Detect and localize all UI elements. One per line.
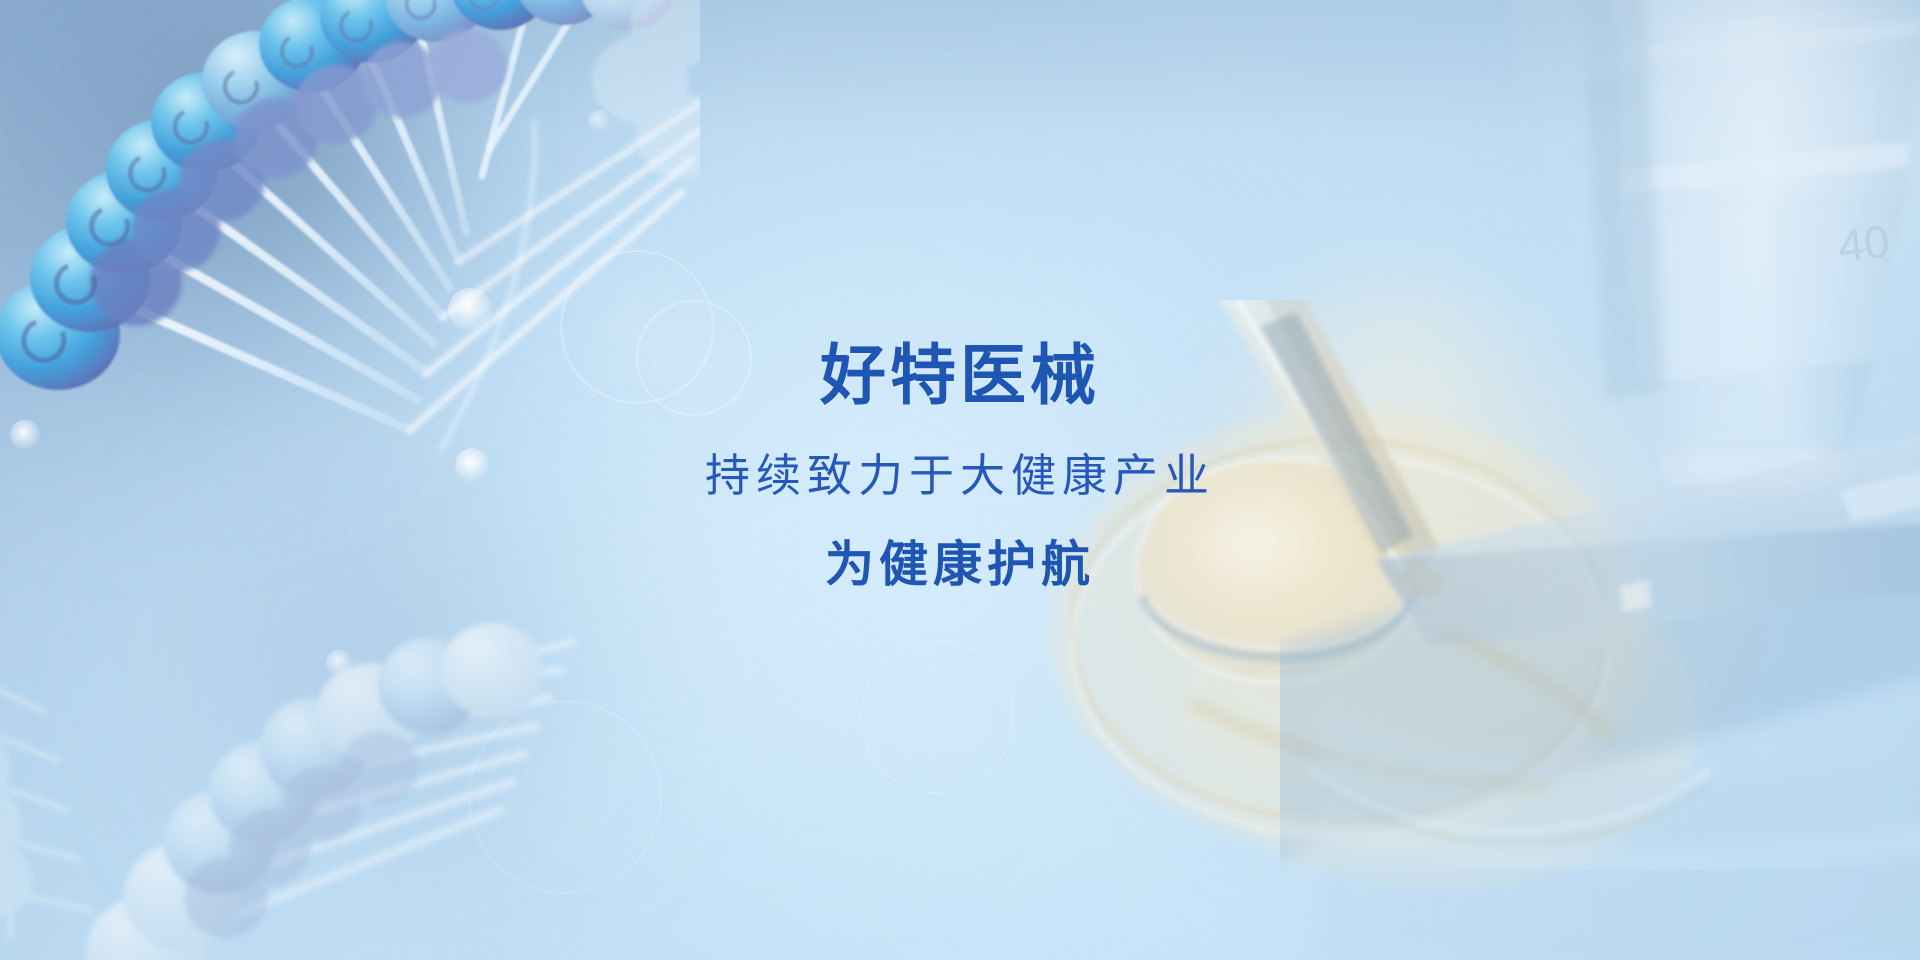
page-title: 好特医械 <box>0 340 1920 411</box>
hero-banner: 40 <box>0 0 1920 960</box>
subtitle-primary: 持续致力于大健康产业 <box>0 451 1920 501</box>
headline-block: 好特医械 持续致力于大健康产业 为健康护航 <box>0 340 1920 593</box>
subtitle-secondary: 为健康护航 <box>0 539 1920 593</box>
